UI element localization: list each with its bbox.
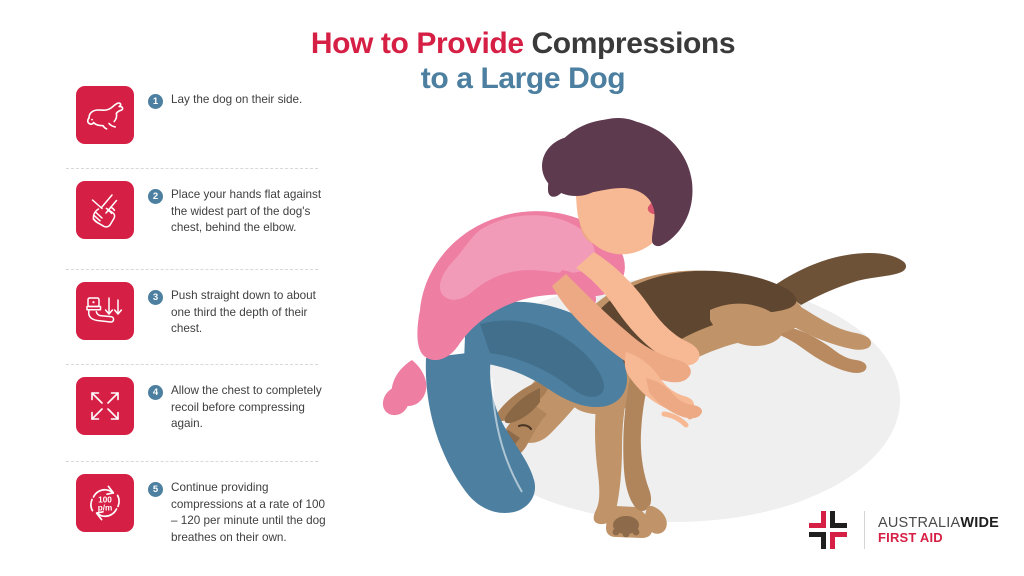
step-item-4: 4 Allow the chest to completely recoil b… [60,375,330,451]
step-body-4: 4 Allow the chest to completely recoil b… [148,375,330,433]
logo-australia-text: AUSTRALIA [878,515,960,531]
step-body-5: 5 Continue providing compressions at a r… [148,472,330,546]
step-text-2: Place your hands flat against the widest… [171,187,330,237]
logo-divider [864,511,865,549]
four-outward-arrows-expand-icon [76,377,134,435]
step-text-4: Allow the chest to completely recoil bef… [171,383,330,433]
steps-list: 1 Lay the dog on their side. [60,84,330,554]
step-text-5: Continue providing compressions at a rat… [171,480,330,546]
australia-wide-cross-logo-icon [806,508,850,552]
step-item-5: 100 p/m 5 Continue providing compression… [60,472,330,554]
logo-line-australiawide: AUSTRALIAWIDE [878,515,999,531]
step-body-3: 3 Push straight down to about one third … [148,280,330,338]
circular-arrows-rate-icon: 100 p/m [76,474,134,532]
title-part-dark: Compressions [532,27,736,60]
two-hands-flat-icon [76,181,134,239]
logo-wide-text: WIDE [960,515,999,531]
step-item-1: 1 Lay the dog on their side. [60,84,330,158]
step-body-2: 2 Place your hands flat against the wide… [148,179,330,237]
rate-icon-label-pm: p/m [98,504,113,513]
step-number-badge-5: 5 [148,482,163,497]
step-divider-3 [66,364,318,365]
step-item-2: 2 Place your hands flat against the wide… [60,179,330,259]
step-body-1: 1 Lay the dog on their side. [148,84,302,109]
step-divider-2 [66,269,318,270]
step-text-3: Push straight down to about one third th… [171,288,330,338]
logo-line-first-aid: FIRST AID [878,531,999,546]
step-divider-4 [66,461,318,462]
step-item-3: 3 Push straight down to about one third … [60,280,330,354]
step-number-badge-1: 1 [148,94,163,109]
step-number-badge-3: 3 [148,290,163,305]
title-part-red: How to Provide [311,27,524,60]
brand-logo: AUSTRALIAWIDE FIRST AID [806,508,999,552]
title-line-1: How to Provide Compressions [240,26,806,61]
dog-lying-on-side-icon [76,86,134,144]
illustration-woman-compressions-on-dog [380,110,940,550]
step-number-badge-2: 2 [148,189,163,204]
step-number-badge-4: 4 [148,385,163,400]
step-divider-1 [66,168,318,169]
step-text-1: Lay the dog on their side. [171,92,302,109]
logo-wordmark: AUSTRALIAWIDE FIRST AID [878,515,999,546]
hand-push-down-arrows-icon [76,282,134,340]
